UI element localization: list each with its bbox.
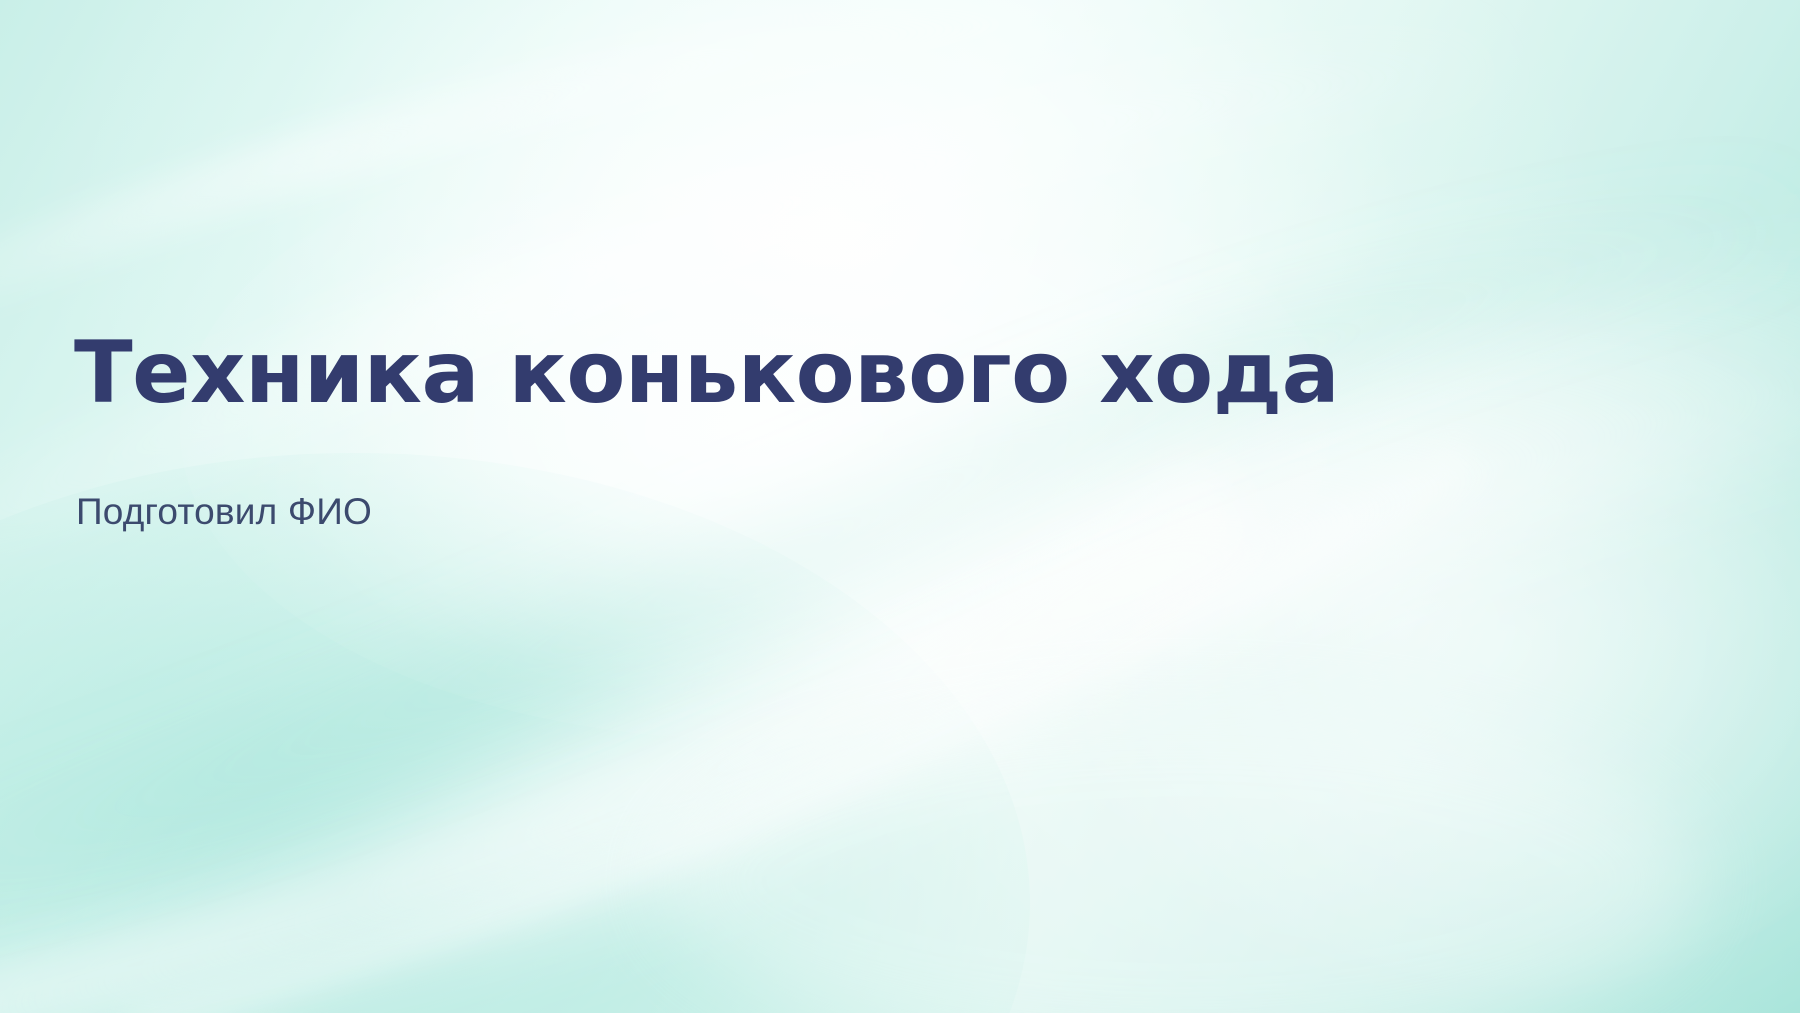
slide-subtitle: Подготовил ФИО (76, 490, 372, 534)
slide-content: Техника конькового хода Подготовил ФИО (0, 0, 1800, 1013)
slide-title: Техника конькового хода (74, 330, 1674, 416)
title-slide: Техника конькового хода Подготовил ФИО (0, 0, 1800, 1013)
